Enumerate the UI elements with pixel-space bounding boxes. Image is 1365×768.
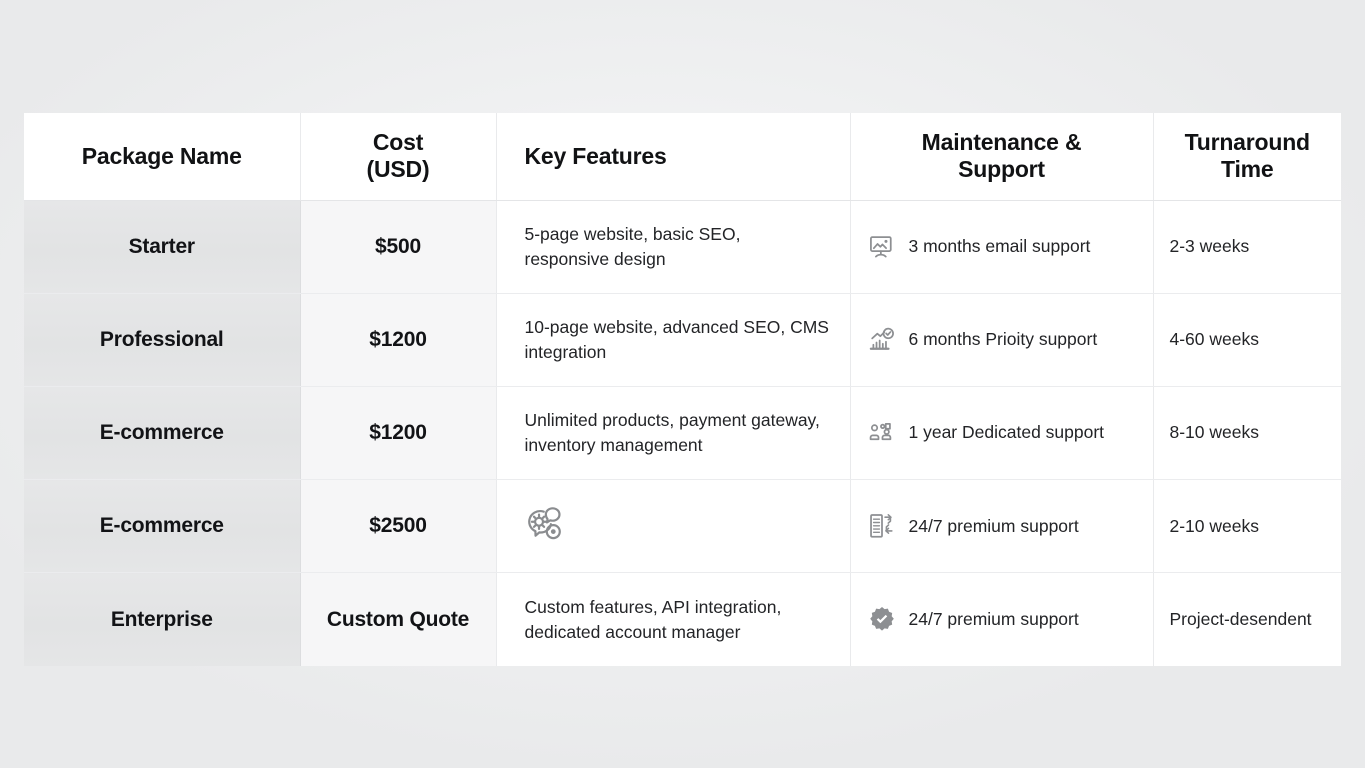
header-label-cost-line2: (USD) [367,156,430,182]
package-name-value: Professional [100,328,224,351]
cell-package-name: E-commerce [24,480,300,573]
cell-key-features [496,480,850,573]
cell-maintenance-support: 3 months email support [850,200,1153,293]
table-body: Starter $500 5-page website, basic SEO, … [24,200,1341,666]
cost-value: $500 [375,235,421,258]
verified-badge-icon [865,603,899,637]
team-group-icon [865,416,899,450]
header-row: Package Name Cost (USD) Key Features Mai… [24,113,1341,200]
cell-maintenance-support: 24/7 premium support [850,480,1153,573]
cell-cost: $1200 [300,293,496,386]
key-features-value: Unlimited products, payment gateway, inv… [525,410,820,455]
table-row: E-commerce $2500 [24,480,1341,573]
turnaround-time-value: 2-10 weeks [1170,516,1260,536]
column-header-key-features: Key Features [496,113,850,200]
turnaround-time-value: 4-60 weeks [1170,329,1260,349]
table-row: Starter $500 5-page website, basic SEO, … [24,200,1341,293]
turnaround-time-value: 2-3 weeks [1170,236,1250,256]
cell-package-name: Professional [24,293,300,386]
cell-maintenance-support: 24/7 premium support [850,573,1153,666]
cell-maintenance-support: 1 year Dedicated support [850,386,1153,479]
header-label-package-name: Package Name [82,143,242,169]
cell-cost: Custom Quote [300,573,496,666]
chat-cluster-icon [525,505,571,547]
maintenance-support-value: 24/7 premium support [909,516,1079,537]
cell-key-features: 10-page website, advanced SEO, CMS integ… [496,293,850,386]
cell-package-name: E-commerce [24,386,300,479]
pricing-table-container: Package Name Cost (USD) Key Features Mai… [24,113,1341,666]
maintenance-support-value: 24/7 premium support [909,609,1079,630]
maintenance-support-value: 1 year Dedicated support [909,422,1105,443]
cost-value: $1200 [369,328,426,351]
cell-turnaround-time: 8-10 weeks [1153,386,1341,479]
maintenance-support-value: 6 months Prioity support [909,329,1098,350]
cell-cost: $1200 [300,386,496,479]
header-label-turnaround-line2: Time [1221,156,1273,182]
cost-value: Custom Quote [327,608,469,631]
document-sync-icon [865,509,899,543]
cell-turnaround-time: 2-3 weeks [1153,200,1341,293]
cell-turnaround-time: Project-desendent [1153,573,1341,666]
cell-cost: $2500 [300,480,496,573]
table-row: E-commerce $1200 Unlimited products, pay… [24,386,1341,479]
package-name-value: E-commerce [100,514,224,537]
cell-package-name: Enterprise [24,573,300,666]
maintenance-support-value: 3 months email support [909,236,1091,257]
header-label-cost-line1: Cost [373,129,423,155]
package-name-value: E-commerce [100,421,224,444]
cell-turnaround-time: 2-10 weeks [1153,480,1341,573]
cell-key-features: 5-page website, basic SEO, responsive de… [496,200,850,293]
header-label-turnaround-line1: Turnaround [1185,129,1310,155]
column-header-package-name: Package Name [24,113,300,200]
table-row: Professional $1200 10-page website, adva… [24,293,1341,386]
header-label-maintenance-line1: Maintenance & [922,129,1082,155]
column-header-maintenance-support: Maintenance & Support [850,113,1153,200]
cell-cost: $500 [300,200,496,293]
header-label-maintenance-line2: Support [958,156,1045,182]
table-row: Enterprise Custom Quote Custom features,… [24,573,1341,666]
monitor-image-icon [865,230,899,264]
package-name-value: Enterprise [111,608,213,631]
package-name-value: Starter [129,235,195,258]
column-header-cost: Cost (USD) [300,113,496,200]
pricing-comparison-table: Package Name Cost (USD) Key Features Mai… [24,113,1341,666]
table-header: Package Name Cost (USD) Key Features Mai… [24,113,1341,200]
cell-key-features: Unlimited products, payment gateway, inv… [496,386,850,479]
cost-value: $1200 [369,421,426,444]
key-features-value: 5-page website, basic SEO, responsive de… [525,224,741,269]
cell-turnaround-time: 4-60 weeks [1153,293,1341,386]
turnaround-time-value: Project-desendent [1170,609,1312,629]
cell-package-name: Starter [24,200,300,293]
cell-maintenance-support: 6 months Prioity support [850,293,1153,386]
key-features-value: Custom features, API integration, dedica… [525,597,782,642]
bar-chart-check-icon [865,323,899,357]
cost-value: $2500 [369,514,426,537]
key-features-value: 10-page website, advanced SEO, CMS integ… [525,317,829,362]
header-label-key-features: Key Features [525,143,667,169]
turnaround-time-value: 8-10 weeks [1170,422,1260,442]
cell-key-features: Custom features, API integration, dedica… [496,573,850,666]
column-header-turnaround-time: Turnaround Time [1153,113,1341,200]
